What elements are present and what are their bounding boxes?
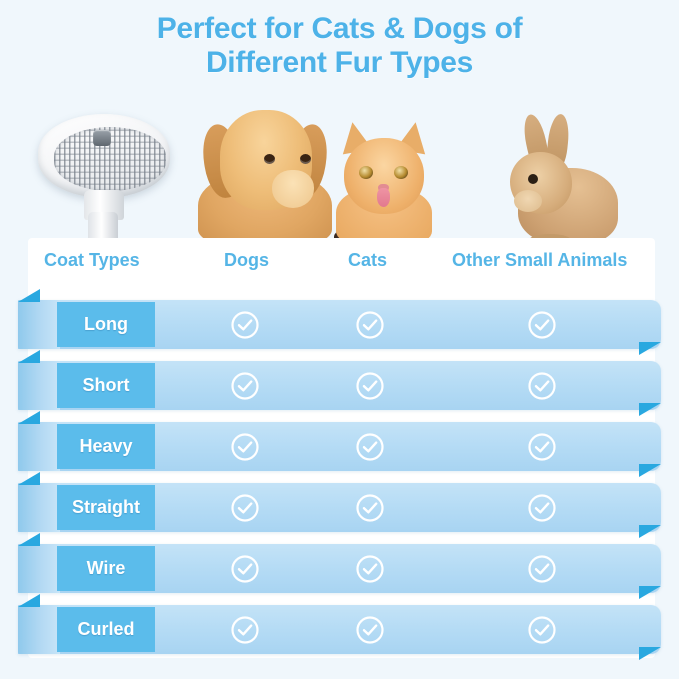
circle-check-icon	[355, 432, 385, 462]
circle-check-icon	[230, 554, 260, 584]
coat-type-chip: Straight	[57, 485, 155, 530]
cat-tongue	[377, 188, 390, 207]
rabbit-image	[500, 114, 622, 244]
circle-check-icon	[355, 493, 385, 523]
coat-type-label: Heavy	[79, 436, 132, 457]
coat-type-chip: Heavy	[57, 424, 155, 469]
circle-check-icon	[527, 432, 557, 462]
circle-check-icon	[527, 554, 557, 584]
row-ribbon-left-fold	[18, 483, 60, 532]
dog-head	[220, 110, 312, 210]
brush-head	[38, 114, 170, 198]
rabbit-muzzle	[514, 190, 542, 212]
rabbit-eye	[528, 174, 538, 184]
circle-check-icon	[355, 310, 385, 340]
coat-type-chip: Short	[57, 363, 155, 408]
circle-check-icon	[527, 493, 557, 523]
row-ribbon-left-fold	[18, 361, 60, 410]
table-row: Short	[0, 357, 679, 418]
table-row: Heavy	[0, 418, 679, 479]
page-title: Perfect for Cats & Dogs of Different Fur…	[0, 12, 679, 80]
coat-type-chip: Long	[57, 302, 155, 347]
cat-eye-left	[359, 166, 373, 179]
circle-check-icon	[230, 615, 260, 645]
circle-check-icon	[527, 371, 557, 401]
row-ribbon-left-fold	[18, 422, 60, 471]
dog-image	[196, 96, 334, 244]
row-ribbon-left-fold	[18, 300, 60, 349]
coat-type-label: Straight	[72, 497, 140, 518]
rabbit-head	[510, 152, 572, 214]
circle-check-icon	[230, 432, 260, 462]
coat-type-label: Wire	[87, 558, 126, 579]
coat-type-label: Curled	[77, 619, 134, 640]
cat-image	[330, 116, 438, 244]
table-row: Curled	[0, 601, 679, 662]
page-title-line-1: Perfect for Cats & Dogs of	[0, 12, 679, 46]
page-title-line-2: Different Fur Types	[0, 46, 679, 80]
column-header-other-small-animals: Other Small Animals	[452, 250, 627, 271]
table-row: Long	[0, 296, 679, 357]
hero-image-strip	[0, 92, 679, 244]
circle-check-icon	[230, 493, 260, 523]
brush-retract-button	[93, 130, 111, 146]
table-row: Straight	[0, 479, 679, 540]
table-body: Long Short Heavy Straight Wire Curled	[0, 296, 679, 662]
coat-type-chip: Wire	[57, 546, 155, 591]
cat-head	[344, 138, 424, 214]
coat-type-label: Short	[83, 375, 130, 396]
dog-eye-right	[300, 154, 311, 164]
table-row: Wire	[0, 540, 679, 601]
coat-type-label: Long	[84, 314, 128, 335]
table-header-row: Coat Types Dogs Cats Other Small Animals	[28, 250, 655, 294]
row-ribbon-left-fold	[18, 544, 60, 593]
circle-check-icon	[527, 310, 557, 340]
dog-snout	[272, 170, 314, 208]
circle-check-icon	[527, 615, 557, 645]
dog-eye-left	[264, 154, 275, 164]
circle-check-icon	[230, 310, 260, 340]
column-header-coat-types: Coat Types	[44, 250, 140, 271]
pet-grooming-brush-image	[30, 108, 180, 248]
coat-type-chip: Curled	[57, 607, 155, 652]
circle-check-icon	[355, 554, 385, 584]
cat-eye-right	[394, 166, 408, 179]
column-header-cats: Cats	[348, 250, 387, 271]
row-ribbon-left-fold	[18, 605, 60, 654]
circle-check-icon	[355, 615, 385, 645]
column-header-dogs: Dogs	[224, 250, 269, 271]
circle-check-icon	[355, 371, 385, 401]
circle-check-icon	[230, 371, 260, 401]
